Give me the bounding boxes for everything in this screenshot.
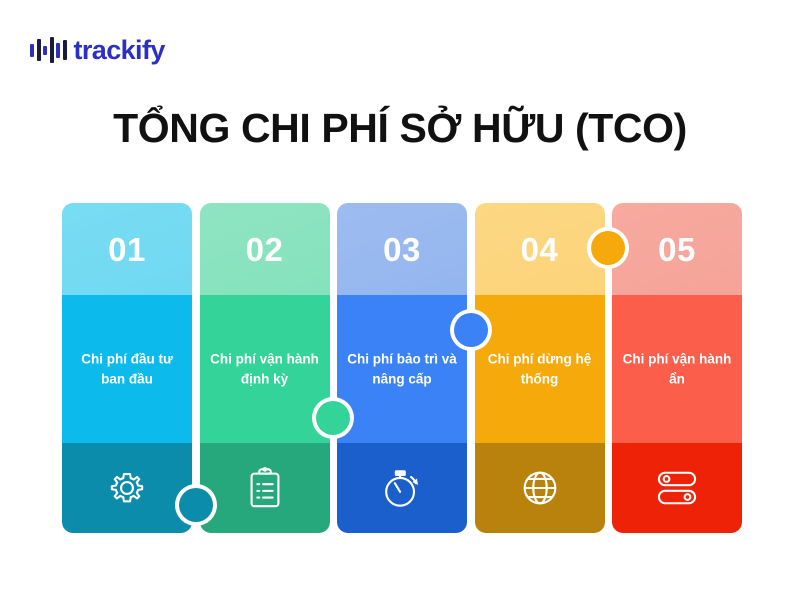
card-label: Chi phí đầu tư ban đầu: [70, 349, 184, 388]
card-body: 03Chi phí bảo trì và nâng cấp: [337, 203, 467, 533]
card-label: Chi phí vận hành định kỳ: [208, 349, 322, 388]
logo-bar-4: [50, 37, 54, 63]
card-number: 03: [337, 231, 467, 269]
stopwatch-icon: [337, 443, 467, 533]
card-number-band: 05: [612, 203, 742, 295]
card-number: 02: [200, 231, 330, 269]
puzzle-connector-03-04: [454, 313, 488, 347]
card-body: 04Chi phí dừng hệ thống: [475, 203, 605, 533]
logo-bar-5: [56, 43, 60, 58]
puzzle-connector-04-05: [591, 231, 625, 265]
card-number: 01: [62, 231, 192, 269]
card-label: Chi phí bảo trì và nâng cấp: [345, 349, 459, 388]
tco-card-02[interactable]: 02Chi phí vận hành định kỳ: [200, 203, 330, 533]
card-label-band: Chi phí vận hành định kỳ: [200, 295, 330, 443]
card-label: Chi phí vận hành ẩn: [620, 349, 734, 388]
server-icon: [612, 443, 742, 533]
logo-bar-3: [43, 46, 47, 55]
card-label-band: Chi phí đầu tư ban đầu: [62, 295, 192, 443]
card-number-band: 03: [337, 203, 467, 295]
card-icon-band: [475, 443, 605, 533]
card-icon-band: [62, 443, 192, 533]
gear-icon: [62, 443, 192, 533]
card-icon-band: [337, 443, 467, 533]
globe-icon: [475, 443, 605, 533]
tco-card-01[interactable]: 01Chi phí đầu tư ban đầu: [62, 203, 192, 533]
card-label-band: Chi phí vận hành ẩn: [612, 295, 742, 443]
tco-cards-row: 01Chi phí đầu tư ban đầu02Chi phí vận hà…: [62, 203, 742, 533]
tco-card-05[interactable]: 05Chi phí vận hành ẩn: [612, 203, 742, 533]
infographic-page: trackify TỔNG CHI PHÍ SỞ HỮU (TCO) 01Chi…: [0, 0, 800, 600]
clipboard-icon: [200, 443, 330, 533]
logo-bar-1: [30, 44, 34, 57]
card-number: 05: [612, 231, 742, 269]
card-body: 05Chi phí vận hành ẩn: [612, 203, 742, 533]
brand-name: trackify: [74, 37, 165, 64]
brand-logo[interactable]: trackify: [30, 36, 165, 64]
card-body: 02Chi phí vận hành định kỳ: [200, 203, 330, 533]
card-label-band: Chi phí dừng hệ thống: [475, 295, 605, 443]
tco-card-03[interactable]: 03Chi phí bảo trì và nâng cấp: [337, 203, 467, 533]
card-label-band: Chi phí bảo trì và nâng cấp: [337, 295, 467, 443]
card-body: 01Chi phí đầu tư ban đầu: [62, 203, 192, 533]
logo-bar-2: [37, 39, 41, 61]
card-number-band: 04: [475, 203, 605, 295]
card-icon-band: [200, 443, 330, 533]
puzzle-connector-01-02: [179, 488, 213, 522]
logo-bar-6: [63, 40, 67, 60]
card-number-band: 02: [200, 203, 330, 295]
audio-bars-logo-icon: [30, 36, 67, 64]
page-title: TỔNG CHI PHÍ SỞ HỮU (TCO): [0, 105, 800, 152]
tco-card-04[interactable]: 04Chi phí dừng hệ thống: [475, 203, 605, 533]
card-label: Chi phí dừng hệ thống: [483, 349, 597, 388]
card-number-band: 01: [62, 203, 192, 295]
card-number: 04: [475, 231, 605, 269]
card-icon-band: [612, 443, 742, 533]
puzzle-connector-02-03: [316, 401, 350, 435]
